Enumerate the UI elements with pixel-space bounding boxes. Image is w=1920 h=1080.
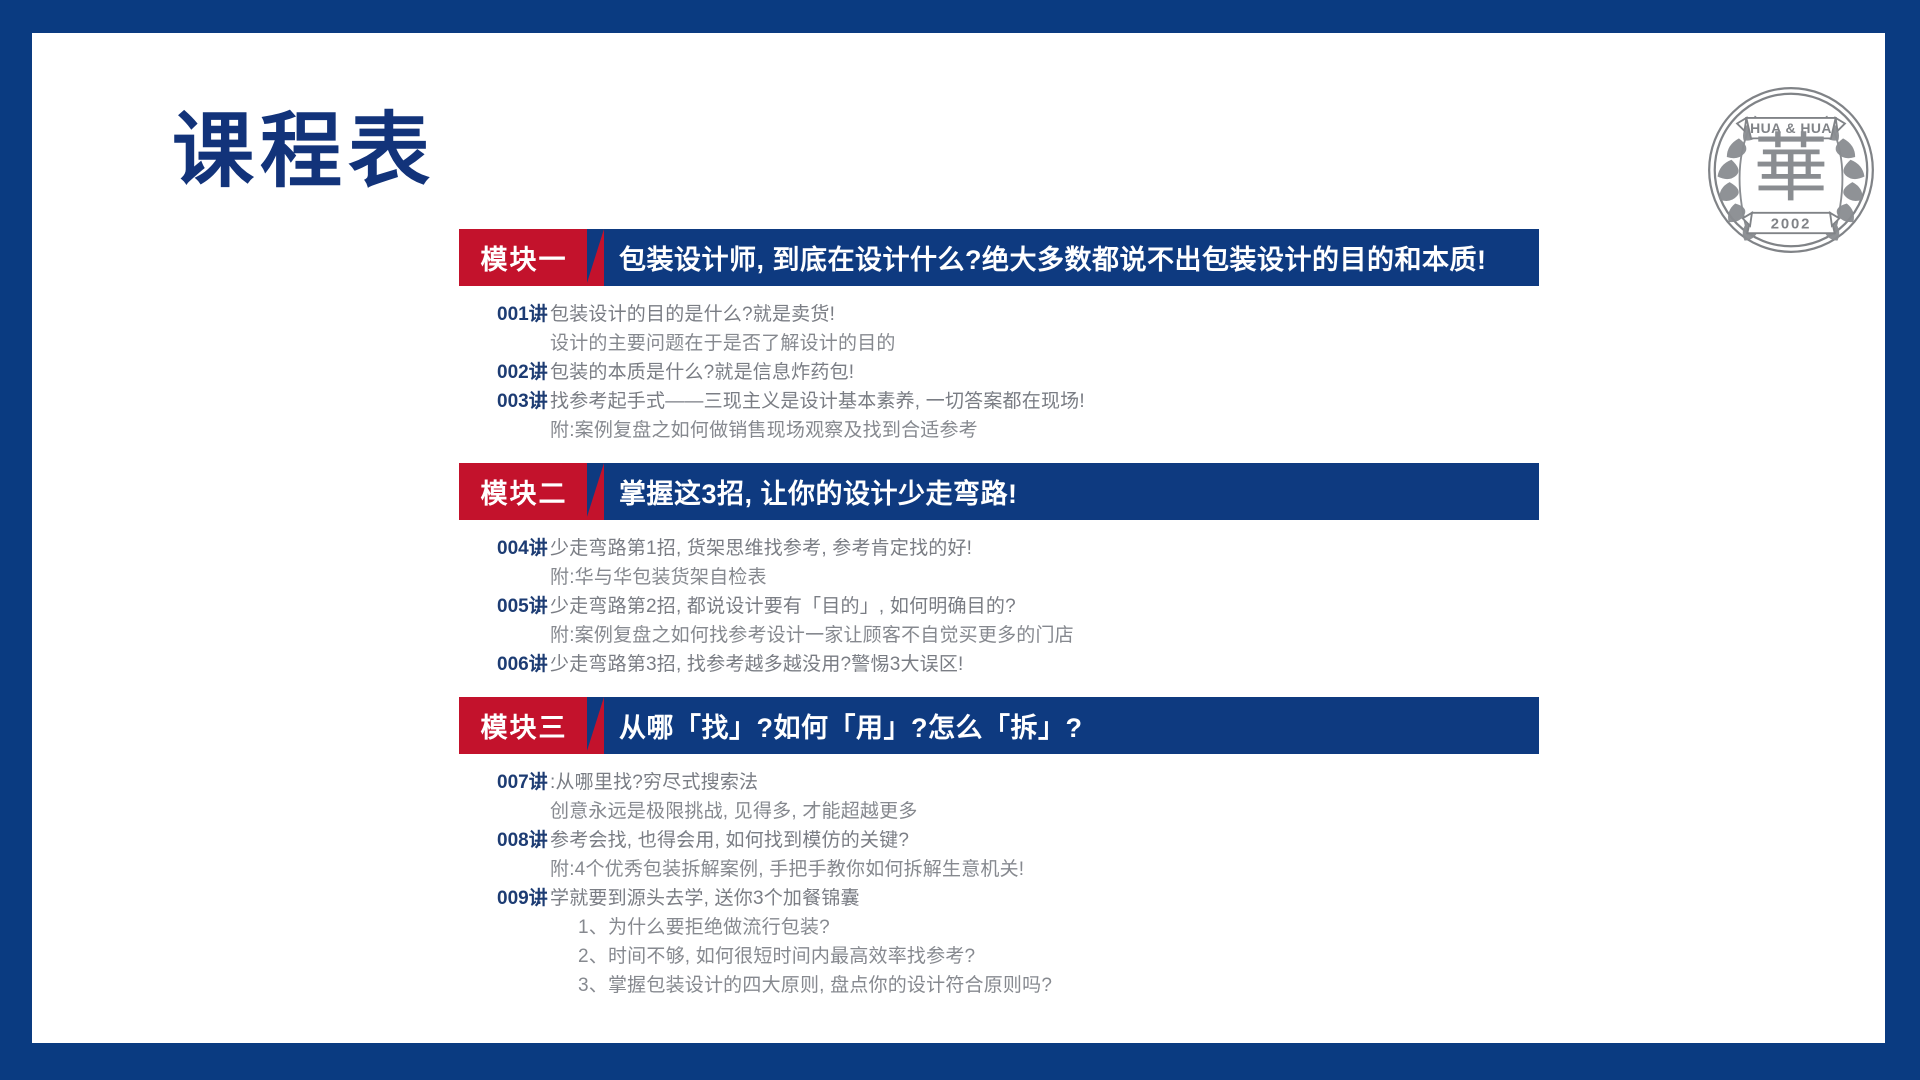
lesson-number: 007讲 — [459, 768, 536, 797]
lesson-text: 附:4个优秀包装拆解案例, 手把手教你如何拆解生意机关! — [550, 855, 1024, 884]
svg-text:華: 華 — [1754, 129, 1828, 211]
lesson-text: 包装的本质是什么?就是信息炸药包! — [550, 358, 854, 387]
lesson-item[interactable]: 008讲 : 参考会找, 也得会用, 如何找到模仿的关键? — [459, 826, 1539, 855]
lesson-item[interactable]: 附:华与华包装货架自检表 — [459, 563, 1539, 592]
module-2-lessons: 004讲 : 少走弯路第1招, 货架思维找参考, 参考肯定找的好! 附:华与华包… — [459, 520, 1539, 697]
lesson-item[interactable]: 创意永远是极限挑战, 见得多, 才能超越更多 — [459, 797, 1539, 826]
lesson-item[interactable]: 附:案例复盘之如何找参考设计一家让顾客不自觉买更多的门店 — [459, 621, 1539, 650]
module-2-title: 掌握这3招, 让你的设计少走弯路! — [587, 472, 1018, 511]
lesson-text: 少走弯路第1招, 货架思维找参考, 参考肯定找的好! — [550, 534, 972, 563]
lesson-colon: : — [536, 768, 550, 797]
lesson-colon: : — [536, 358, 550, 387]
lesson-text: 附:案例复盘之如何找参考设计一家让顾客不自觉买更多的门店 — [550, 621, 1074, 650]
lesson-text: 附:案例复盘之如何做销售现场观察及找到合适参考 — [550, 416, 978, 445]
lesson-text: 创意永远是极限挑战, 见得多, 才能超越更多 — [550, 797, 918, 826]
module-3-header[interactable]: 模块三 从哪「找」?如何「用」?怎么「拆」? — [459, 697, 1539, 754]
module-1-lessons: 001讲 : 包装设计的目的是什么?就是卖货! 设计的主要问题在于是否了解设计的… — [459, 286, 1539, 463]
lesson-item[interactable]: 004讲 : 少走弯路第1招, 货架思维找参考, 参考肯定找的好! — [459, 534, 1539, 563]
lesson-number: 005讲 — [459, 592, 536, 621]
module-1-header[interactable]: 模块一 包装设计师, 到底在设计什么?绝大多数都说不出包装设计的目的和本质! — [459, 229, 1539, 286]
slide-root: 课程表 — [0, 0, 1920, 1080]
lesson-text: 少走弯路第3招, 找参考越多越没用?警惕3大误区! — [550, 650, 964, 679]
module-3: 模块三 从哪「找」?如何「用」?怎么「拆」? 007讲 : :从哪里找?穷尽式搜… — [459, 697, 1539, 1018]
lesson-text: 3、掌握包装设计的四大原则, 盘点你的设计符合原则吗? — [550, 971, 1052, 1000]
lesson-number: 003讲 — [459, 387, 536, 416]
lesson-text: 1、为什么要拒绝做流行包装? — [550, 913, 830, 942]
lesson-number: 006讲 — [459, 650, 536, 679]
lesson-text: 少走弯路第2招, 都说设计要有「目的」, 如何明确目的? — [550, 592, 1016, 621]
lesson-item[interactable]: 007讲 : :从哪里找?穷尽式搜索法 — [459, 768, 1539, 797]
module-3-tag: 模块三 — [459, 697, 587, 754]
lesson-item[interactable]: 002讲 : 包装的本质是什么?就是信息炸药包! — [459, 358, 1539, 387]
lesson-text: 学就要到源头去学, 送你3个加餐锦囊 — [550, 884, 860, 913]
lesson-colon: : — [536, 387, 550, 416]
lesson-colon: : — [536, 534, 550, 563]
brand-logo: HUA & HUA 華 2002 — [1698, 77, 1884, 263]
slide-canvas: 课程表 — [32, 33, 1885, 1043]
lesson-item[interactable]: 006讲 : 少走弯路第3招, 找参考越多越没用?警惕3大误区! — [459, 650, 1539, 679]
lesson-item[interactable]: 003讲 : 找参考起手式——三现主义是设计基本素养, 一切答案都在现场! — [459, 387, 1539, 416]
module-1-tag: 模块一 — [459, 229, 587, 286]
lesson-text: 找参考起手式——三现主义是设计基本素养, 一切答案都在现场! — [550, 387, 1085, 416]
lesson-number: 009讲 — [459, 884, 536, 913]
lesson-colon: : — [536, 826, 550, 855]
lesson-item[interactable]: 附:案例复盘之如何做销售现场观察及找到合适参考 — [459, 416, 1539, 445]
module-3-lessons: 007讲 : :从哪里找?穷尽式搜索法 创意永远是极限挑战, 见得多, 才能超越… — [459, 754, 1539, 1018]
lesson-item[interactable]: 附:4个优秀包装拆解案例, 手把手教你如何拆解生意机关! — [459, 855, 1539, 884]
lesson-subitem[interactable]: 3、掌握包装设计的四大原则, 盘点你的设计符合原则吗? — [459, 971, 1539, 1000]
lesson-number: 008讲 — [459, 826, 536, 855]
lesson-item[interactable]: 009讲 : 学就要到源头去学, 送你3个加餐锦囊 — [459, 884, 1539, 913]
lesson-text: 参考会找, 也得会用, 如何找到模仿的关键? — [550, 826, 909, 855]
module-1: 模块一 包装设计师, 到底在设计什么?绝大多数都说不出包装设计的目的和本质! 0… — [459, 229, 1539, 463]
lesson-item[interactable]: 设计的主要问题在于是否了解设计的目的 — [459, 329, 1539, 358]
module-2: 模块二 掌握这3招, 让你的设计少走弯路! 004讲 : 少走弯路第1招, 货架… — [459, 463, 1539, 697]
lesson-text: 设计的主要问题在于是否了解设计的目的 — [550, 329, 896, 358]
module-list: 模块一 包装设计师, 到底在设计什么?绝大多数都说不出包装设计的目的和本质! 0… — [459, 229, 1539, 1018]
lesson-colon: : — [536, 650, 550, 679]
lesson-colon: : — [536, 592, 550, 621]
lesson-item[interactable]: 005讲 : 少走弯路第2招, 都说设计要有「目的」, 如何明确目的? — [459, 592, 1539, 621]
page-title: 课程表 — [172, 111, 436, 193]
lesson-text: 附:华与华包装货架自检表 — [550, 563, 767, 592]
lesson-number: 001讲 — [459, 300, 536, 329]
lesson-colon: : — [536, 300, 550, 329]
lesson-colon: : — [536, 884, 550, 913]
module-2-header[interactable]: 模块二 掌握这3招, 让你的设计少走弯路! — [459, 463, 1539, 520]
lesson-text: :从哪里找?穷尽式搜索法 — [550, 768, 758, 797]
module-1-title: 包装设计师, 到底在设计什么?绝大多数都说不出包装设计的目的和本质! — [587, 238, 1487, 277]
lesson-number: 002讲 — [459, 358, 536, 387]
lesson-subitem[interactable]: 1、为什么要拒绝做流行包装? — [459, 913, 1539, 942]
lesson-number: 004讲 — [459, 534, 536, 563]
lesson-text: 2、时间不够, 如何很短时间内最高效率找参考? — [550, 942, 975, 971]
module-3-title: 从哪「找」?如何「用」?怎么「拆」? — [587, 706, 1082, 745]
lesson-subitem[interactable]: 2、时间不够, 如何很短时间内最高效率找参考? — [459, 942, 1539, 971]
lesson-text: 包装设计的目的是什么?就是卖货! — [550, 300, 835, 329]
module-2-tag: 模块二 — [459, 463, 587, 520]
lesson-item[interactable]: 001讲 : 包装设计的目的是什么?就是卖货! — [459, 300, 1539, 329]
svg-text:2002: 2002 — [1771, 217, 1812, 233]
